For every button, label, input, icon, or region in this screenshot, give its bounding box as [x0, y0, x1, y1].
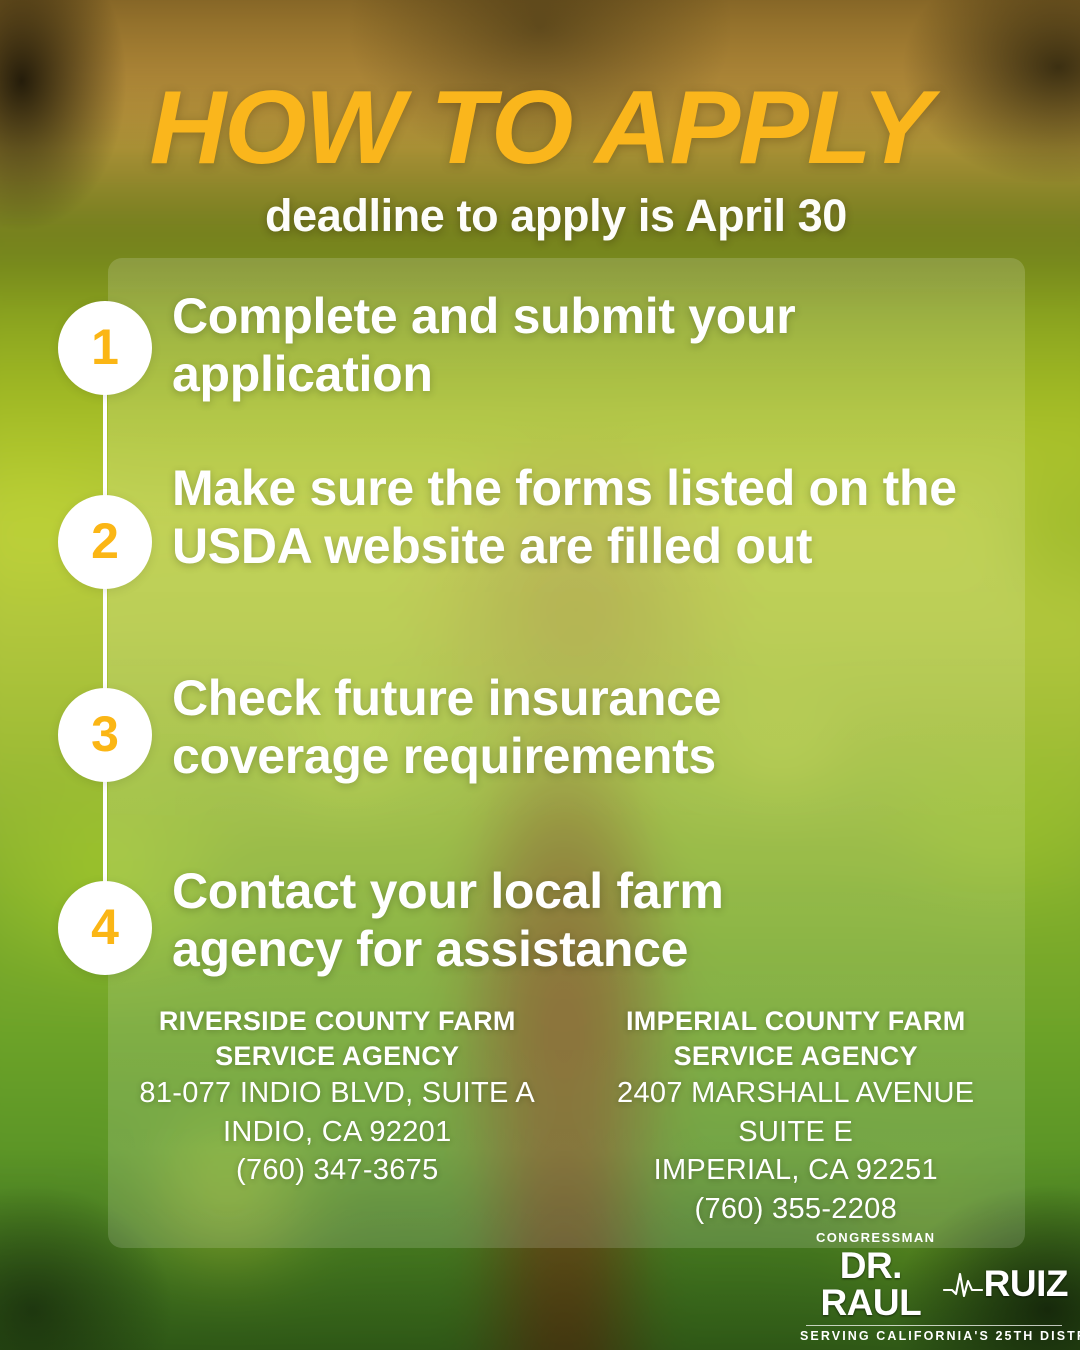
contact-phone[interactable]: (760) 355-2208	[581, 1190, 1012, 1229]
step-marker-3: 3	[58, 688, 152, 782]
step-text-3: Check future insurance coverage requirem…	[172, 670, 872, 785]
step-number-2: 2	[91, 516, 119, 566]
heartbeat-icon	[943, 1269, 983, 1299]
contact-agency-name-line1: RIVERSIDE COUNTY FARM	[122, 1004, 553, 1039]
step-marker-4: 4	[58, 881, 152, 975]
step-number-1: 1	[91, 322, 119, 372]
contact-agency-name-line1: IMPERIAL COUNTY FARM	[581, 1004, 1012, 1039]
step-number-3: 3	[91, 709, 119, 759]
logo-tagline: SERVING CALIFORNIA'S 25TH DISTRICT	[800, 1330, 1068, 1343]
contact-phone[interactable]: (760) 347-3675	[122, 1151, 553, 1190]
congressman-ruiz-logo: CONGRESSMAN DR. RAUL RUIZ SERVING CALIFO…	[800, 1231, 1068, 1343]
step-text-4: Contact your local farm agency for assis…	[172, 863, 812, 978]
step-marker-2: 2	[58, 495, 152, 589]
poster-canvas: HOW TO APPLY deadline to apply is April …	[0, 0, 1080, 1350]
contact-address-line1: 81-077 INDIO BLVD, SUITE A	[122, 1074, 553, 1113]
step-text-1: Complete and submit your application	[172, 288, 902, 403]
contact-riverside-county: RIVERSIDE COUNTY FARM SERVICE AGENCY 81-…	[108, 1004, 567, 1228]
step-number-4: 4	[91, 902, 119, 952]
contact-address-line2: SUITE E	[581, 1113, 1012, 1152]
logo-name-row: DR. RAUL RUIZ	[800, 1247, 1068, 1321]
contact-imperial-county: IMPERIAL COUNTY FARM SERVICE AGENCY 2407…	[567, 1004, 1026, 1228]
timeline-connector	[103, 345, 107, 933]
contact-agency-name-line2: SERVICE AGENCY	[581, 1039, 1012, 1074]
logo-name-last: RUIZ	[984, 1265, 1068, 1302]
logo-name-first: DR. RAUL	[800, 1247, 942, 1321]
contact-address-line1: 2407 MARSHALL AVENUE	[581, 1074, 1012, 1113]
step-marker-1: 1	[58, 301, 152, 395]
logo-eyebrow: CONGRESSMAN	[800, 1231, 1068, 1244]
contact-address-line3: IMPERIAL, CA 92251	[581, 1151, 1012, 1190]
contact-address-line2: INDIO, CA 92201	[122, 1113, 553, 1152]
contact-agency-name-line2: SERVICE AGENCY	[122, 1039, 553, 1074]
contact-agencies: RIVERSIDE COUNTY FARM SERVICE AGENCY 81-…	[108, 1004, 1025, 1228]
step-text-2: Make sure the forms listed on the USDA w…	[172, 460, 972, 575]
logo-divider	[806, 1325, 1062, 1326]
